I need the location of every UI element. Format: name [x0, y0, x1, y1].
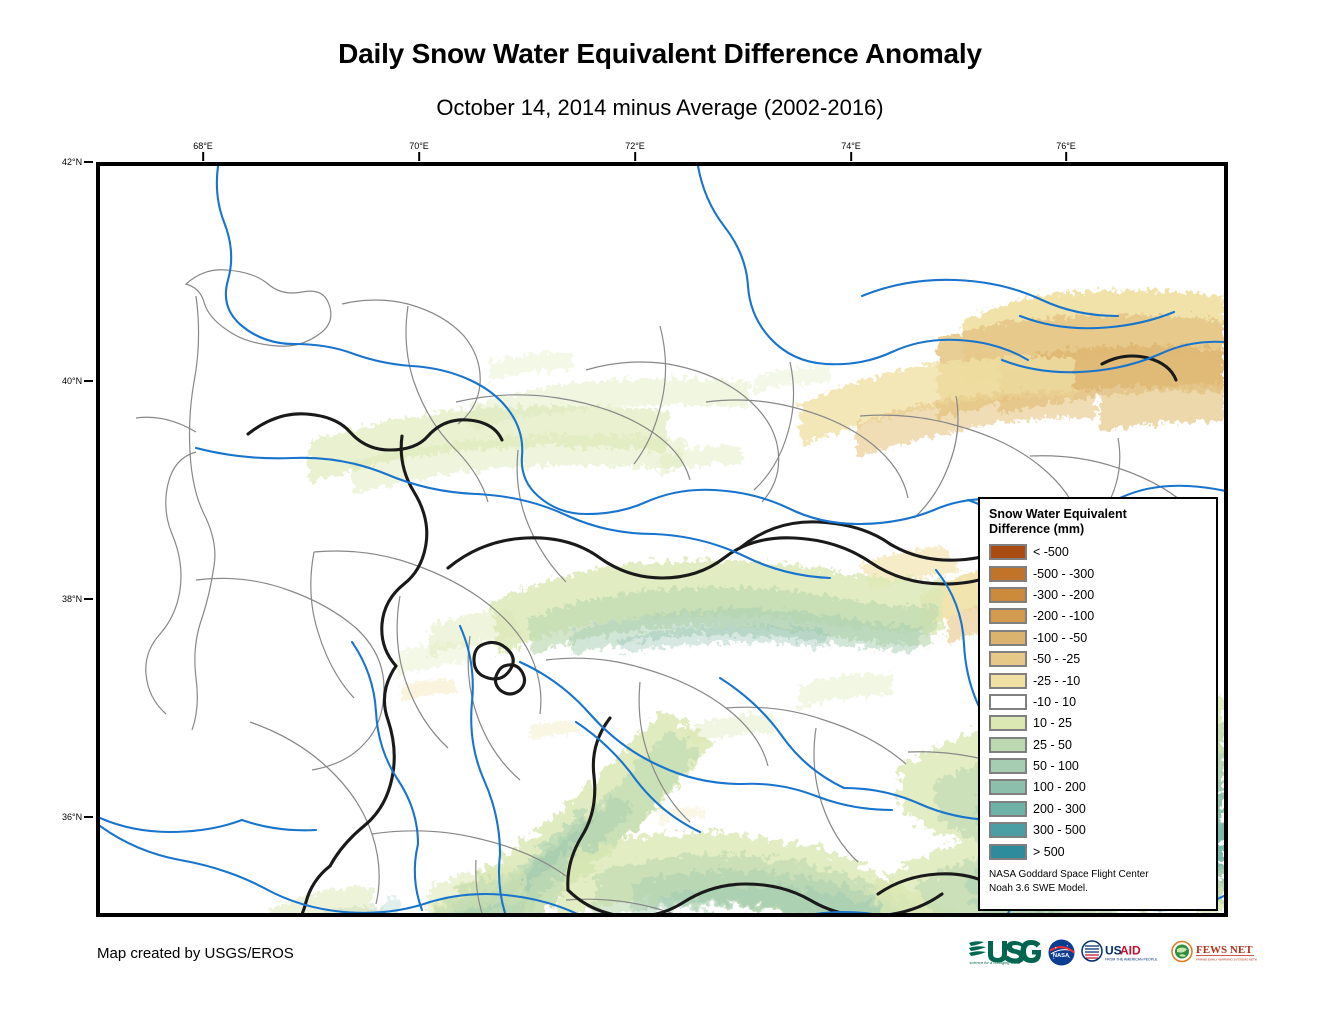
tick-mark — [84, 816, 93, 818]
tick-mark — [84, 598, 93, 600]
legend-swatch — [989, 544, 1027, 560]
legend-swatch — [989, 630, 1027, 646]
legend-row[interactable]: -50 - -25 — [989, 648, 1207, 669]
legend-row[interactable]: < -500 — [989, 542, 1207, 563]
tick-mark — [84, 161, 93, 163]
legend-row[interactable]: -300 - -200 — [989, 584, 1207, 605]
legend-row[interactable]: 200 - 300 — [989, 798, 1207, 819]
legend-label: -300 - -200 — [1033, 588, 1094, 602]
legend-label: 25 - 50 — [1033, 738, 1072, 752]
legend-source-note: NASA Goddard Space Flight Center Noah 3.… — [989, 868, 1207, 894]
usaid-logo: US AID FROM THE AMERICAN PEOPLE — [1081, 938, 1165, 966]
legend-label: 200 - 300 — [1033, 802, 1086, 816]
map-credit: Map created by USGS/EROS — [97, 945, 294, 962]
legend-label: -200 - -100 — [1033, 609, 1094, 623]
page-title: Daily Snow Water Equivalent Difference A… — [0, 38, 1320, 70]
legend-label: -25 - -10 — [1033, 674, 1080, 688]
legend-row[interactable]: -500 - -300 — [989, 563, 1207, 584]
nasa-logo: NASA — [1048, 939, 1075, 966]
legend-label: > 500 — [1033, 845, 1065, 859]
legend-row[interactable]: -25 - -10 — [989, 670, 1207, 691]
legend-swatch — [989, 673, 1027, 689]
legend-label: -500 - -300 — [1033, 567, 1094, 581]
legend-row[interactable]: -10 - 10 — [989, 691, 1207, 712]
legend-swatch — [989, 822, 1027, 838]
usgs-logo: science for a changing world — [968, 938, 1042, 966]
legend-label: 100 - 200 — [1033, 780, 1086, 794]
lat-tick-40n: 40°N — [62, 376, 93, 386]
logo-bar: science for a changing world NASA US AID… — [968, 934, 1234, 970]
legend-row[interactable]: 25 - 50 — [989, 734, 1207, 755]
tick-mark — [850, 152, 852, 161]
map-legend[interactable]: Snow Water Equivalent Difference (mm) < … — [978, 497, 1218, 911]
lon-tick-70e: 70°E — [409, 141, 429, 161]
legend-label: 10 - 25 — [1033, 716, 1072, 730]
tick-mark — [634, 152, 636, 161]
lon-tick-68e: 68°E — [193, 141, 213, 161]
legend-swatch — [989, 566, 1027, 582]
legend-swatch — [989, 801, 1027, 817]
legend-swatch — [989, 844, 1027, 860]
legend-class-list: < -500 -500 - -300 -300 - -200 -200 - -1… — [989, 542, 1207, 863]
legend-label: -10 - 10 — [1033, 695, 1076, 709]
legend-label: -50 - -25 — [1033, 652, 1080, 666]
legend-label: 300 - 500 — [1033, 823, 1086, 837]
legend-source-line1: NASA Goddard Space Flight Center — [989, 868, 1207, 881]
legend-row[interactable]: -200 - -100 — [989, 606, 1207, 627]
lon-tick-72e: 72°E — [625, 141, 645, 161]
lat-tick-38n: 38°N — [62, 594, 93, 604]
legend-label: < -500 — [1033, 545, 1069, 559]
legend-swatch — [989, 737, 1027, 753]
legend-row[interactable]: 50 - 100 — [989, 755, 1207, 776]
tick-mark — [418, 152, 420, 161]
legend-title: Snow Water Equivalent Difference (mm) — [989, 507, 1207, 538]
legend-swatch — [989, 651, 1027, 667]
legend-row[interactable]: 100 - 200 — [989, 777, 1207, 798]
tick-mark — [1065, 152, 1067, 161]
legend-row[interactable]: > 500 — [989, 841, 1207, 862]
legend-swatch — [989, 608, 1027, 624]
svg-text:NASA: NASA — [1053, 952, 1070, 958]
lat-tick-36n: 36°N — [62, 812, 93, 822]
lon-tick-76e: 76°E — [1056, 141, 1076, 161]
legend-row[interactable]: 10 - 25 — [989, 713, 1207, 734]
legend-label: 50 - 100 — [1033, 759, 1079, 773]
legend-swatch — [989, 779, 1027, 795]
legend-swatch — [989, 694, 1027, 710]
legend-row[interactable]: -100 - -50 — [989, 627, 1207, 648]
lon-tick-74e: 74°E — [841, 141, 861, 161]
legend-swatch — [989, 715, 1027, 731]
svg-text:science for a changing world: science for a changing world — [970, 960, 1021, 965]
legend-source-line2: Noah 3.6 SWE Model. — [989, 882, 1207, 895]
svg-text:US: US — [1105, 944, 1122, 958]
legend-swatch — [989, 587, 1027, 603]
page-subtitle: October 14, 2014 minus Average (2002-201… — [0, 95, 1320, 121]
legend-title-line2: Difference (mm) — [989, 522, 1207, 537]
tick-mark — [84, 380, 93, 382]
legend-swatch — [989, 758, 1027, 774]
fewsnet-logo: FEWS NET FAMINE EARLY WARNING SYSTEMS NE… — [1171, 938, 1257, 966]
svg-text:FROM THE AMERICAN PEOPLE: FROM THE AMERICAN PEOPLE — [1105, 958, 1158, 962]
legend-row[interactable]: 300 - 500 — [989, 820, 1207, 841]
lat-tick-42n: 42°N — [62, 157, 93, 167]
legend-title-line1: Snow Water Equivalent — [989, 507, 1207, 522]
svg-text:AID: AID — [1120, 944, 1141, 958]
map-page: Daily Snow Water Equivalent Difference A… — [0, 0, 1320, 1020]
svg-text:FAMINE EARLY WARNING SYSTEMS N: FAMINE EARLY WARNING SYSTEMS NETWORK — [1196, 958, 1257, 962]
svg-text:FEWS NET: FEWS NET — [1196, 944, 1253, 956]
tick-mark — [202, 152, 204, 161]
legend-label: -100 - -50 — [1033, 631, 1087, 645]
